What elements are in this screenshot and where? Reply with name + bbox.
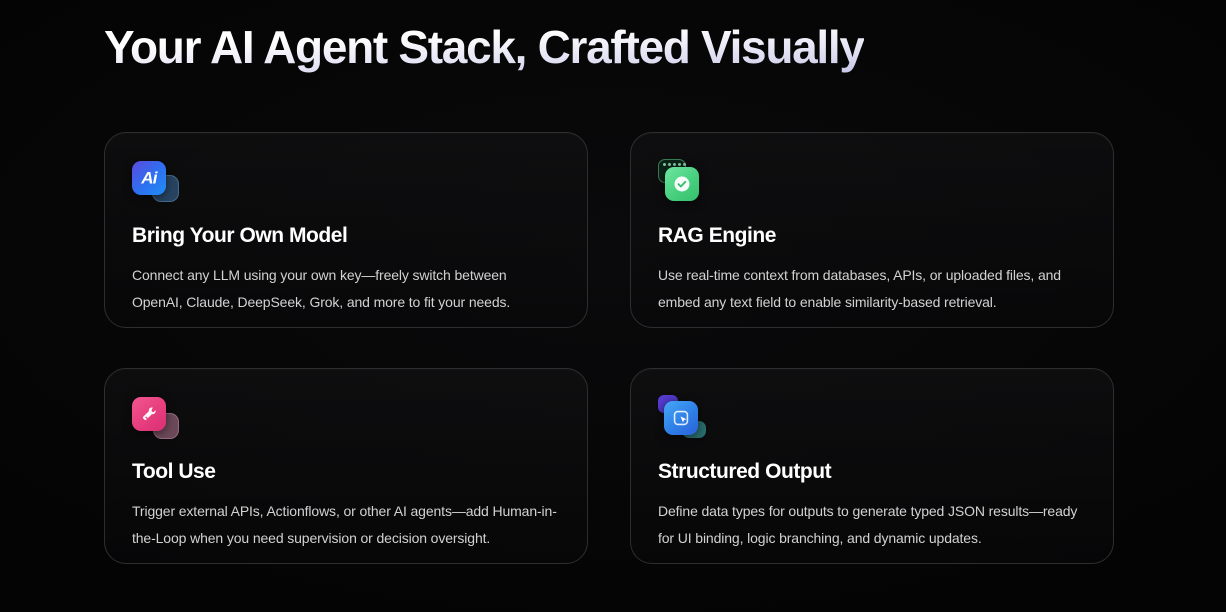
feature-section: Your AI Agent Stack, Crafted Visually Ai… xyxy=(0,0,1226,612)
ai-model-icon-label: Ai xyxy=(141,169,156,186)
icon-dots xyxy=(663,163,686,166)
feature-card-bring-your-own-model[interactable]: Ai Bring Your Own Model Connect any LLM … xyxy=(104,132,588,328)
feature-card-rag-engine[interactable]: RAG Engine Use real-time context from da… xyxy=(630,132,1114,328)
icon-tile xyxy=(664,401,698,435)
card-body: Use real-time context from databases, AP… xyxy=(658,262,1086,316)
card-title: Bring Your Own Model xyxy=(132,223,560,249)
feature-card-structured-output[interactable]: Structured Output Define data types for … xyxy=(630,368,1114,564)
card-body: Connect any LLM using your own key—freel… xyxy=(132,262,560,316)
feature-card-grid: Ai Bring Your Own Model Connect any LLM … xyxy=(104,132,1114,564)
page-title: Your AI Agent Stack, Crafted Visually xyxy=(104,16,864,78)
check-circle-icon xyxy=(658,159,710,207)
card-title: Tool Use xyxy=(132,459,560,485)
card-title: RAG Engine xyxy=(658,223,1086,249)
card-body: Trigger external APIs, Actionflows, or o… xyxy=(132,498,560,552)
wrench-tool-icon xyxy=(132,395,184,443)
icon-tile xyxy=(665,167,699,201)
feature-card-tool-use[interactable]: Tool Use Trigger external APIs, Actionfl… xyxy=(104,368,588,564)
icon-tile: Ai xyxy=(132,161,166,195)
cursor-frame-icon xyxy=(658,395,710,443)
icon-tile xyxy=(132,397,166,431)
card-title: Structured Output xyxy=(658,459,1086,485)
card-body: Define data types for outputs to generat… xyxy=(658,498,1086,552)
ai-model-icon: Ai xyxy=(132,159,184,207)
